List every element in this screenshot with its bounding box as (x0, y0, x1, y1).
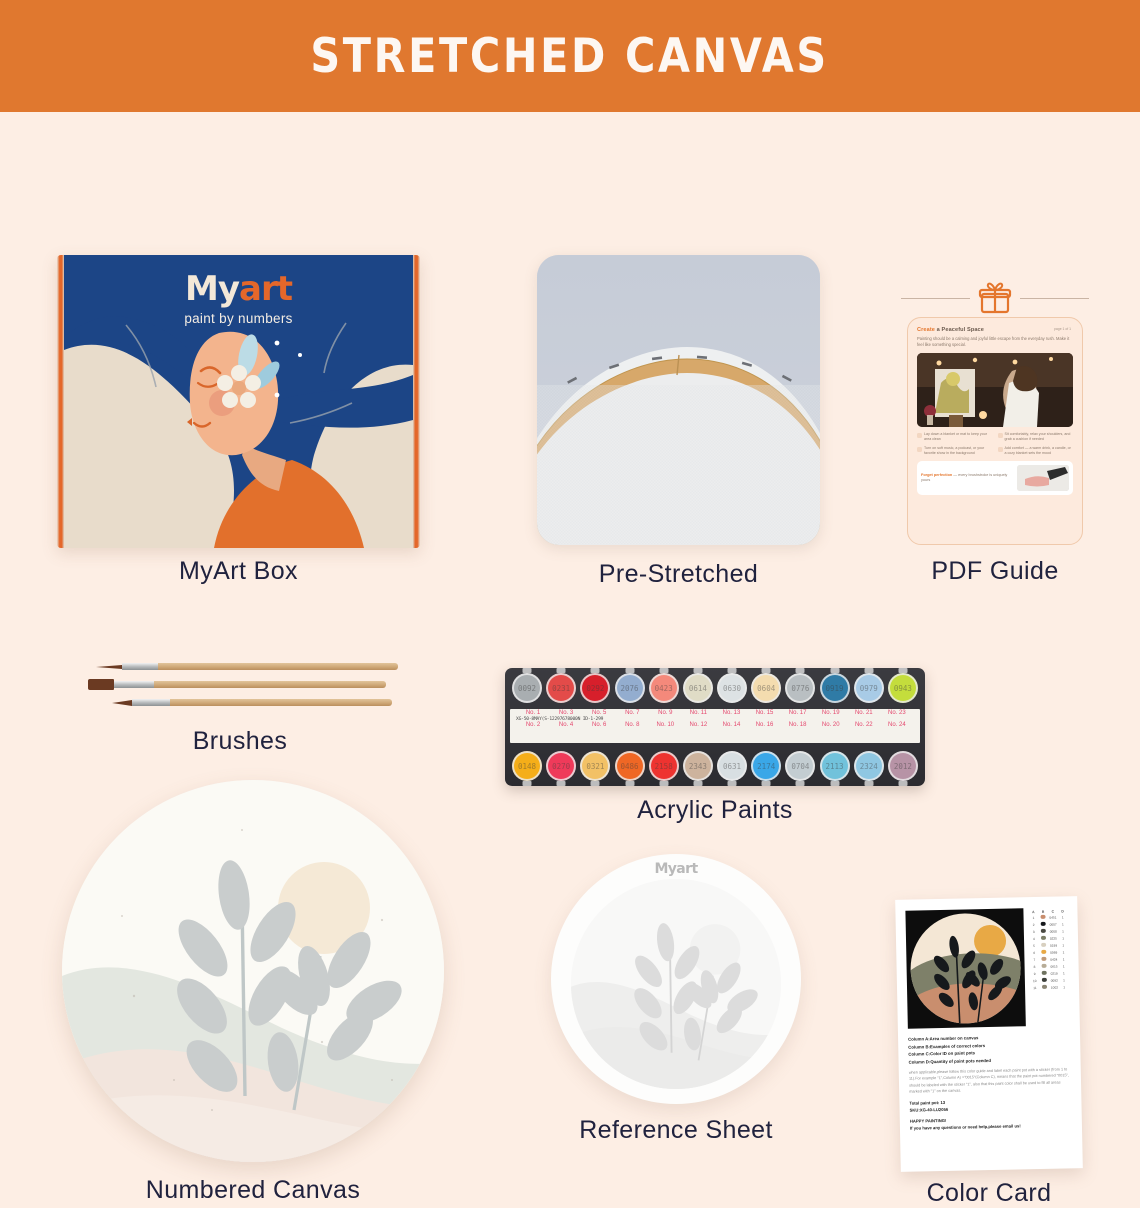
paint-pot-code: 0486 (617, 753, 643, 779)
paint-pot-code: 0270 (548, 753, 574, 779)
cell-color-swatch (1040, 977, 1050, 983)
caption-myart-box: MyArt Box (57, 557, 420, 586)
cell-area-number: 5 (1029, 943, 1039, 947)
product-grid: Myart paint by numbers MyArt Box (0, 112, 1140, 1140)
cell-area-number: 11 (1030, 985, 1040, 989)
page-header: STRETCHED CANVAS (0, 0, 1140, 112)
color-swatch (1042, 957, 1047, 962)
table-body: 1045112000713000814022515019916006917042… (1028, 913, 1069, 991)
brush-stroke-photo (1017, 465, 1069, 491)
caption-pdf-guide: PDF Guide (901, 557, 1089, 586)
pdf-guide-page: page 1 of 1 Create a Peaceful Space Pain… (907, 317, 1083, 545)
paint-pot-code: 0292 (582, 675, 608, 701)
paint-pot-code: 0614 (685, 675, 711, 701)
numbered-canvas-item: Numbered Canvas (62, 780, 444, 1162)
cell-quantity: 1 (1059, 957, 1069, 961)
paint-number-label: No. 13 (716, 710, 746, 716)
divider-line-left (901, 298, 970, 299)
cell-color-id: 0069 (1049, 950, 1059, 954)
paint-pot: 0979 (854, 673, 884, 703)
reference-logo: Myart (551, 861, 801, 877)
pdf-photo-scene (917, 353, 1073, 427)
paint-pot-code: 2343 (685, 753, 711, 779)
cell-quantity: 1 (1058, 922, 1068, 926)
brush-ferrule (114, 681, 154, 688)
paint-pot: 0092 (512, 673, 542, 703)
paint-pot: 2113 (820, 751, 850, 781)
pdf-note-accent: Forget perfection (921, 473, 952, 477)
pdf-tip-text: Turn on soft music, a podcast, or your f… (924, 446, 993, 456)
cell-color-id: 0225 (1048, 936, 1058, 940)
paint-pot: 2158 (649, 751, 679, 781)
paint-number-label: No. 11 (683, 710, 713, 716)
cell-color-swatch (1040, 984, 1050, 990)
caption-brushes: Brushes (60, 727, 420, 756)
cell-area-number: 3 (1029, 929, 1039, 933)
logo-art-text: art (239, 269, 292, 309)
paint-pot: 2076 (615, 673, 645, 703)
cell-quantity: 1 (1058, 929, 1068, 933)
paint-pot-code: 2113 (822, 753, 848, 779)
paint-pot: 0631 (717, 751, 747, 781)
paint-number-label: No. 7 (617, 710, 647, 716)
cell-quantity: 1 (1058, 936, 1068, 940)
cell-quantity: 1 (1059, 978, 1069, 982)
paint-pot-code: 2076 (617, 675, 643, 701)
numbered-canvas-image (62, 780, 444, 1162)
paint-pot: 0943 (888, 673, 918, 703)
paint-pot: 0321 (580, 751, 610, 781)
color-swatch (1041, 943, 1046, 948)
color-card-image: ABCD 10451120007130008140225150199160069… (895, 896, 1083, 1172)
card-plant (909, 912, 1021, 1024)
pdf-tips-list: Lay down a blanket or mat to keep your a… (917, 432, 1073, 456)
color-card-item: ABCD 10451120007130008140225150199160069… (898, 898, 1080, 1170)
reference-sheet-item: Myart (551, 854, 801, 1104)
paint-pot-code: 0630 (719, 675, 745, 701)
brush-fine-liner (96, 663, 398, 670)
paint-number-label: No. 8 (617, 722, 647, 728)
color-swatch (1042, 971, 1047, 976)
reference-artwork (571, 879, 781, 1089)
brush-flat (88, 681, 386, 688)
table-column-header: B (1038, 910, 1048, 914)
card-legend: Column A:Area number on canvasColumn B:E… (908, 1032, 1071, 1065)
paint-number-label: No. 12 (683, 722, 713, 728)
cell-color-id: 0008 (1048, 929, 1058, 933)
paint-pot-code: 0631 (719, 753, 745, 779)
tip-bullet-icon (917, 447, 922, 452)
paint-pot: 0604 (751, 673, 781, 703)
cell-color-swatch (1038, 914, 1048, 920)
caption-acrylic-paints: Acrylic Paints (505, 796, 925, 825)
paint-pot: 0614 (683, 673, 713, 703)
paint-pot-code: 0704 (787, 753, 813, 779)
paint-number-label: No. 6 (584, 722, 614, 728)
paint-tray: 0092023102922076042306140630060407760919… (505, 668, 925, 786)
brush-handle (170, 699, 392, 706)
paint-pot: 2324 (854, 751, 884, 781)
paint-pot-code: 0092 (514, 675, 540, 701)
cell-color-id: 0424 (1049, 957, 1059, 961)
table-row: 1110021 (1030, 983, 1069, 991)
cell-area-number: 2 (1029, 922, 1039, 926)
cell-color-id: 0092 (1049, 978, 1059, 982)
brushes-item: Brushes (60, 655, 420, 725)
cell-area-number: 9 (1030, 971, 1040, 975)
pdf-tip-text: Sit comfortably, relax your shoulders, a… (1005, 432, 1074, 442)
paint-number-label: No. 9 (650, 710, 680, 716)
paint-pot: 0270 (546, 751, 576, 781)
paint-number-label: No. 17 (783, 710, 813, 716)
brush-ferrule (122, 663, 158, 670)
box-left-edge (57, 255, 64, 548)
divider-line-right (1020, 298, 1089, 299)
paint-pot: 0292 (580, 673, 610, 703)
pdf-heading-accent: Create (917, 327, 935, 333)
paint-pot: 0486 (615, 751, 645, 781)
reference-sheet-image: Myart (551, 854, 801, 1104)
cell-quantity: 1 (1059, 971, 1069, 975)
paint-number-label: No. 18 (783, 722, 813, 728)
caption-numbered-canvas: Numbered Canvas (62, 1176, 444, 1205)
paint-number-label: No. 21 (849, 710, 879, 716)
stretched-canvas-photo (537, 255, 820, 545)
acrylic-paints-item: 0092023102922076042306140630060407760919… (505, 668, 925, 786)
paint-number-label: No. 10 (650, 722, 680, 728)
paint-pot: 0704 (785, 751, 815, 781)
paint-number-label: No. 22 (849, 722, 879, 728)
paint-row-bottom: 0148027003210486215823430631217407042113… (509, 751, 921, 781)
pdf-tip: Sit comfortably, relax your shoulders, a… (998, 432, 1074, 442)
caption-reference-sheet: Reference Sheet (551, 1116, 801, 1145)
cell-color-swatch (1038, 921, 1048, 927)
caption-pre-stretched: Pre-Stretched (537, 560, 820, 589)
paint-pot-code: 2012 (890, 753, 916, 779)
brush-round (112, 699, 392, 706)
page-title: STRETCHED CANVAS (311, 29, 829, 84)
paint-pot: 2012 (888, 751, 918, 781)
paint-pot-code: 0148 (514, 753, 540, 779)
pdf-photo (917, 353, 1073, 427)
paint-pot: 0148 (512, 751, 542, 781)
paint-pot: 0919 (820, 673, 850, 703)
cell-color-swatch (1039, 949, 1049, 955)
table-column-header: D (1058, 909, 1068, 913)
cell-color-swatch (1039, 935, 1049, 941)
cell-quantity: 1 (1059, 950, 1069, 954)
paint-numbers-bottom: No. 2No. 4No. 6No. 8No. 10No. 12No. 14No… (514, 722, 916, 728)
color-swatch (1041, 929, 1046, 934)
color-swatch (1042, 950, 1047, 955)
paint-number-label: No. 1 (518, 710, 548, 716)
pdf-tip: Turn on soft music, a podcast, or your f… (917, 446, 993, 456)
cell-color-swatch (1039, 970, 1049, 976)
paint-pot-code: 0231 (548, 675, 574, 701)
paint-pot: 2343 (683, 751, 713, 781)
color-swatch (1042, 964, 1047, 969)
color-swatch (1041, 915, 1046, 920)
brush-tip (88, 679, 114, 690)
cell-quantity: 1 (1059, 964, 1069, 968)
reference-artwork-svg (571, 879, 781, 1089)
cell-area-number: 7 (1029, 957, 1039, 961)
paint-pot-code: 0919 (822, 675, 848, 701)
paint-number-label: No. 24 (882, 722, 912, 728)
paint-label-strip: No. 1No. 3No. 5No. 7No. 9No. 11No. 13No.… (510, 709, 920, 743)
card-art-circle (909, 912, 1021, 1024)
paint-number-label: No. 20 (816, 722, 846, 728)
cell-color-swatch (1039, 963, 1049, 969)
brush-handle (158, 663, 398, 670)
pdf-heading-rest: a Peaceful Space (935, 327, 984, 333)
card-footer: Total paint pot: 13 SKU:XG-40-LU2056 HAP… (909, 1096, 1072, 1132)
tip-bullet-icon (998, 447, 1003, 452)
cell-area-number: 1 (1029, 915, 1039, 919)
box-right-edge (413, 255, 420, 548)
myart-box-image: Myart paint by numbers (57, 255, 420, 548)
tip-bullet-icon (917, 433, 922, 438)
paint-number-label: No. 5 (584, 710, 614, 716)
cell-color-id: 0615 (1049, 964, 1059, 968)
logo-my-text: My (185, 269, 239, 309)
paint-pot: 2174 (751, 751, 781, 781)
table-header-row: ABCD (1028, 909, 1067, 914)
paint-pot: 0776 (785, 673, 815, 703)
paint-pot-code: 0943 (890, 675, 916, 701)
cell-area-number: 4 (1029, 936, 1039, 940)
cell-color-id: 0199 (1049, 943, 1059, 947)
pdf-intro: Painting should be a calming and joyful … (917, 336, 1073, 348)
table-column-header: C (1048, 910, 1058, 914)
color-swatch (1042, 985, 1047, 990)
gift-icon (977, 281, 1013, 315)
tip-bullet-icon (998, 433, 1003, 438)
paint-number-label: No. 23 (882, 710, 912, 716)
pdf-tip-text: Lay down a blanket or mat to keep your a… (924, 432, 993, 442)
brush-tip (112, 700, 132, 706)
paint-number-label: No. 16 (750, 722, 780, 728)
paint-number-label: No. 19 (816, 710, 846, 716)
paint-pot-code: 2158 (651, 753, 677, 779)
paint-pot-code: 0776 (787, 675, 813, 701)
cell-quantity: 1 (1059, 985, 1069, 989)
pre-stretched-item: Pre-Stretched (537, 255, 820, 545)
pdf-tip: Add comfort — a warm drink, a candle, or… (998, 446, 1074, 456)
pdf-heading: Create a Peaceful Space (917, 327, 1073, 333)
paint-strip-code: XG-50-8MAY(S-12297678000N ID-1-299 (516, 717, 916, 722)
pdf-tip-text: Add comfort — a warm drink, a candle, or… (1005, 446, 1074, 456)
paint-pot: 0630 (717, 673, 747, 703)
card-color-table: ABCD 10451120007130008140225150199160069… (1028, 907, 1069, 1026)
box-artwork: Myart paint by numbers (64, 255, 413, 548)
pdf-guide-item: page 1 of 1 Create a Peaceful Space Pain… (901, 277, 1089, 549)
brush-tip (96, 665, 122, 669)
cell-area-number: 10 (1030, 978, 1040, 982)
paint-row-top: 0092023102922076042306140630060407760919… (509, 673, 921, 703)
cell-area-number: 8 (1030, 964, 1040, 968)
paint-number-label: No. 4 (551, 722, 581, 728)
cell-color-id: 0219 (1049, 971, 1059, 975)
cell-color-swatch (1039, 928, 1049, 934)
table-column-header: A (1028, 910, 1038, 914)
cell-quantity: 1 (1058, 943, 1068, 947)
card-instructions: when applicable,please follow this color… (909, 1066, 1071, 1094)
color-swatch (1042, 978, 1047, 983)
myart-box-item: Myart paint by numbers MyArt Box (57, 255, 420, 548)
color-swatch (1041, 936, 1046, 941)
paint-pot-code: 0423 (651, 675, 677, 701)
paint-number-label: No. 2 (518, 722, 548, 728)
caption-color-card: Color Card (898, 1179, 1080, 1208)
pre-stretched-image (537, 255, 820, 545)
paint-pot: 0231 (546, 673, 576, 703)
cell-color-id: 1002 (1049, 985, 1059, 989)
gift-divider (901, 277, 1089, 319)
box-tagline: paint by numbers (64, 311, 413, 326)
paint-number-label: No. 15 (750, 710, 780, 716)
paint-number-label: No. 14 (716, 722, 746, 728)
cell-color-swatch (1039, 942, 1049, 948)
card-artwork (905, 908, 1025, 1028)
cell-color-id: 0451 (1048, 915, 1058, 919)
paint-pot-code: 2324 (856, 753, 882, 779)
brush-handle (154, 681, 386, 688)
brush-ferrule (132, 699, 170, 706)
paint-numbers-top: No. 1No. 3No. 5No. 7No. 9No. 11No. 13No.… (514, 710, 916, 716)
cell-area-number: 6 (1029, 950, 1039, 954)
paint-pot-code: 0979 (856, 675, 882, 701)
pdf-note: Forget perfection — every brushstroke is… (917, 461, 1073, 495)
cell-quantity: 1 (1058, 915, 1068, 919)
paint-number-label: No. 3 (551, 710, 581, 716)
paint-pot-code: 0321 (582, 753, 608, 779)
cell-color-swatch (1039, 956, 1049, 962)
card-top-section: ABCD 10451120007130008140225150199160069… (905, 907, 1069, 1028)
paint-pot-code: 2174 (753, 753, 779, 779)
pdf-note-text: Forget perfection — every brushstroke is… (921, 473, 1013, 484)
pdf-page-label: page 1 of 1 (1054, 327, 1071, 331)
paint-pot-code: 0604 (753, 675, 779, 701)
pdf-note-image (1017, 465, 1069, 491)
cell-color-id: 0007 (1048, 922, 1058, 926)
pdf-tip: Lay down a blanket or mat to keep your a… (917, 432, 993, 442)
box-logo: Myart paint by numbers (64, 269, 413, 326)
canvas-artwork (62, 780, 444, 1162)
paint-pot: 0423 (649, 673, 679, 703)
color-swatch (1041, 922, 1046, 927)
